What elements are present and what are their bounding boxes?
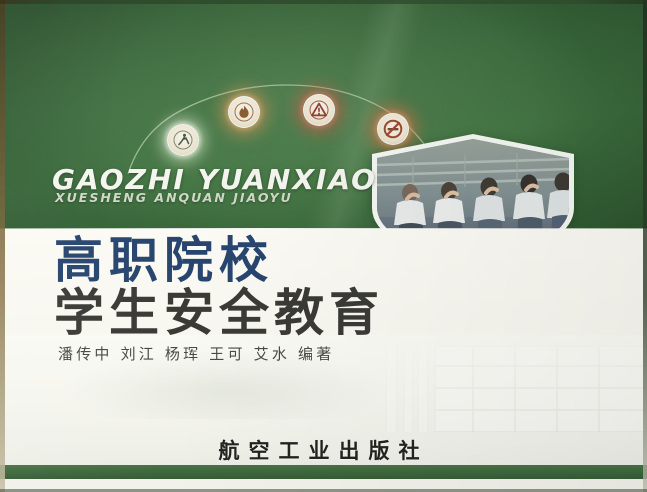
warning-triangle-icon — [303, 94, 335, 126]
pinyin-subtitle: XUESHENG ANQUAN JIAOYU — [55, 190, 293, 205]
cover-edge-right — [643, 0, 647, 492]
title-line-1: 高职院校 — [54, 236, 274, 285]
pedestrian-crossing-icon — [167, 124, 199, 156]
bottom-green-strip — [0, 465, 647, 479]
publisher-name: 航空工业出版社 — [0, 435, 647, 465]
book-cover: GAOZHI YUANXIAO XUESHENG ANQUAN JIAOYU — [0, 0, 647, 492]
cover-edge-left — [0, 0, 5, 492]
title-line-2: 学生安全教育 — [54, 288, 384, 338]
cover-edge-top — [0, 0, 647, 4]
fire-safety-icon — [228, 96, 260, 128]
authors-line: 潘传中 刘江 杨珲 王可 艾水 编著 — [58, 343, 334, 364]
